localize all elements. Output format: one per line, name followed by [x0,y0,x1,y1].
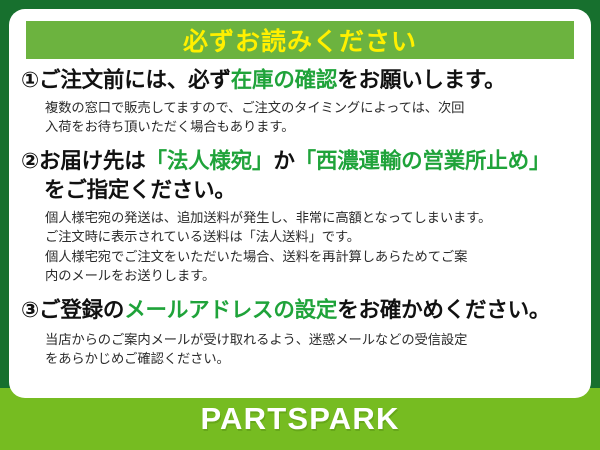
header-band: 必ずお読みください [26,21,574,59]
item-1-head-before: ご注文前には、必ず [39,68,231,93]
item-1-head-after: をお願いします。 [337,68,505,93]
notice-item-2-note: 個人様宅宛の発送は、追加送料が発生し、非常に高額となってしまいます。 ご注文時に… [21,209,581,287]
header-title: 必ずお読みください [183,22,417,58]
item-1-note-line-1: 複数の窓口で販売してますので、ご注文のタイミングによっては、次回 [45,99,571,119]
item-3-highlight: メールアドレスの設定 [124,298,337,323]
item-2-note-line-2: ご注文時に表示されている送料は「法人送料」です。 [45,228,571,248]
item-3-note-line-2: をあらかじめご確認ください。 [45,350,571,370]
item-2-note-line-4: 内のメールをお送りします。 [45,267,571,287]
item-1-highlight: 在庫の確認 [231,68,338,93]
notice-item-2-heading-line2: をご指定ください。 [21,177,581,205]
notice-item-3-note: 当店からのご案内メールが受け取れるよう、迷惑メールなどの受信設定 をあらかじめご… [21,331,581,370]
notice-item-3: ③ご登録のメールアドレスの設定をお確かめください。 当店からのご案内メールが受け… [21,297,581,370]
item-3-head-after: をお確かめください。 [337,298,550,323]
item-2-note-line-3: 個人様宅宛でご注文をいただいた場合、送料を再計算しあらためてご案 [45,248,571,268]
item-2-head-before: お届け先は [39,149,146,174]
item-3-marker: ③ [21,298,39,323]
item-2-marker: ② [21,149,39,174]
notice-item-1: ①ご注文前には、必ず在庫の確認をお願いします。 複数の窓口で販売してますので、ご… [21,67,581,138]
notice-item-1-heading: ①ご注文前には、必ず在庫の確認をお願いします。 [21,67,581,96]
item-1-marker: ① [21,68,39,93]
item-2-note-line-1: 個人様宅宛の発送は、追加送料が発生し、非常に高額となってしまいます。 [45,209,571,229]
item-1-note-line-2: 入荷をお待ち頂いただく場合もあります。 [45,118,571,138]
item-2-highlight-corporate: 「法人様宛」 [146,149,274,174]
notice-item-2-heading: ②お届け先は「法人様宛」か「西濃運輸の営業所止め」 [21,148,581,177]
item-2-highlight-seino: 「西濃運輸の営業所止め」 [295,149,551,174]
item-3-head-before: ご登録の [39,298,124,323]
item-2-head-middle: か [273,149,294,174]
notice-panel: 必ずお読みください ①ご注文前には、必ず在庫の確認をお願いします。 複数の窓口で… [9,9,591,398]
notice-banner: PARTSPARK 必ずお読みください ①ご注文前には、必ず在庫の確認をお願いし… [0,0,600,450]
brand-logo-partspark: PARTSPARK [200,401,399,437]
item-3-note-line-1: 当店からのご案内メールが受け取れるよう、迷惑メールなどの受信設定 [45,331,571,351]
notice-item-2: ②お届け先は「法人様宛」か「西濃運輸の営業所止め」 をご指定ください。 個人様宅… [21,148,581,287]
notice-item-3-heading: ③ご登録のメールアドレスの設定をお確かめください。 [21,297,581,326]
notice-item-1-note: 複数の窓口で販売してますので、ご注文のタイミングによっては、次回 入荷をお待ち頂… [21,99,581,138]
notice-items-list: ①ご注文前には、必ず在庫の確認をお願いします。 複数の窓口で販売してますので、ご… [9,67,591,372]
